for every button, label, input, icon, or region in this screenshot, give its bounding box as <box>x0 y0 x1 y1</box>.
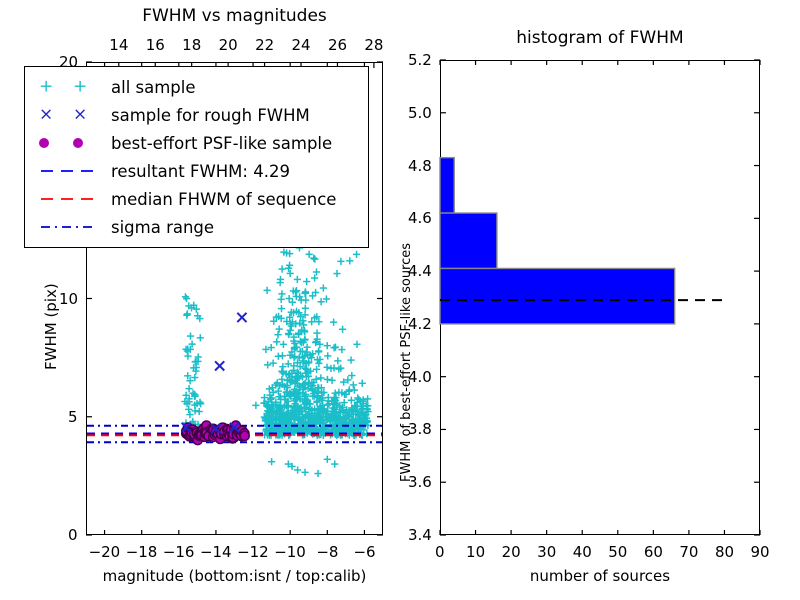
legend-label: all sample <box>107 78 196 97</box>
legend-item-median-fwhm: median FHWM of sequence <box>33 185 360 213</box>
legend-item-sigma-range: sigma range <box>33 213 360 241</box>
left-top-xtick-label: 28 <box>364 36 383 54</box>
left-ytick-label: 0 <box>68 526 78 544</box>
left-top-xtick-label: 16 <box>146 36 165 54</box>
legend: + + all sample × × sample for rough FWHM… <box>24 66 369 248</box>
left-top-xtick-label: 14 <box>109 36 128 54</box>
left-xtick-label: −20 <box>89 543 121 561</box>
left-top-xtick-label: 22 <box>255 36 274 54</box>
right-xtick-label: 0 <box>435 543 445 561</box>
right-ytick-label: 5.0 <box>408 104 432 122</box>
right-ytick-label: 4.0 <box>408 368 432 386</box>
legend-item-resultant-fwhm: resultant FWHM: 4.29 <box>33 157 360 185</box>
right-ytick-label: 3.6 <box>408 473 432 491</box>
legend-item-psf-sample: best-effort PSF-like sample <box>33 129 360 157</box>
legend-key-dot-icon <box>33 131 107 155</box>
right-xtick-label: 40 <box>573 543 592 561</box>
right-ytick-label: 3.8 <box>408 420 432 438</box>
histogram-bar <box>440 268 675 323</box>
left-top-xtick-label: 26 <box>328 36 347 54</box>
legend-item-rough-fwhm: × × sample for rough FWHM <box>33 101 360 129</box>
legend-label: best-effort PSF-like sample <box>107 134 332 153</box>
legend-key-dashdot-icon <box>33 215 107 239</box>
right-xtick-label: 20 <box>502 543 521 561</box>
left-ytick-label: 5 <box>68 408 78 426</box>
figure-canvas: FWHM vs magnitudes magnitude (bottom:isn… <box>0 0 800 600</box>
left-xtick-label: −18 <box>126 543 158 561</box>
legend-label: sample for rough FWHM <box>107 106 310 125</box>
right-ytick-label: 5.2 <box>408 51 432 69</box>
histogram-bar <box>440 158 454 213</box>
right-ytick-label: 4.6 <box>408 209 432 227</box>
left-xtick-label: −10 <box>274 543 306 561</box>
legend-label: median FHWM of sequence <box>107 190 336 209</box>
left-top-xtick-label: 20 <box>219 36 238 54</box>
right-xtick-label: 60 <box>644 543 663 561</box>
legend-item-all-sample: + + all sample <box>33 73 360 101</box>
legend-key-plus-icon: + + <box>33 75 107 99</box>
right-ytick-label: 4.2 <box>408 315 432 333</box>
legend-key-dashed-blue-icon <box>33 159 107 183</box>
legend-key-dashed-red-icon <box>33 187 107 211</box>
histogram-bar <box>440 213 497 268</box>
left-xtick-label: −16 <box>163 543 195 561</box>
left-top-xtick-label: 18 <box>182 36 201 54</box>
right-xtick-label: 70 <box>679 543 698 561</box>
psf-sample-scatter <box>182 421 250 445</box>
legend-label: resultant FWHM: 4.29 <box>107 162 290 181</box>
right-xtick-label: 30 <box>537 543 556 561</box>
right-ytick-label: 4.8 <box>408 157 432 175</box>
legend-label: sigma range <box>107 218 214 237</box>
left-xtick-label: −14 <box>200 543 232 561</box>
left-xtick-label: −8 <box>316 543 338 561</box>
right-xtick-label: 90 <box>751 543 770 561</box>
left-top-xtick-label: 24 <box>292 36 311 54</box>
legend-key-cross-icon: × × <box>33 103 107 127</box>
right-ytick-label: 4.4 <box>408 262 432 280</box>
right-xtick-label: 50 <box>608 543 627 561</box>
right-xtick-label: 80 <box>715 543 734 561</box>
right-xtick-label: 10 <box>466 543 485 561</box>
right-ytick-label: 3.4 <box>408 526 432 544</box>
left-ytick-label: 10 <box>59 290 78 308</box>
left-xtick-label: −6 <box>353 543 375 561</box>
left-xtick-label: −12 <box>237 543 269 561</box>
